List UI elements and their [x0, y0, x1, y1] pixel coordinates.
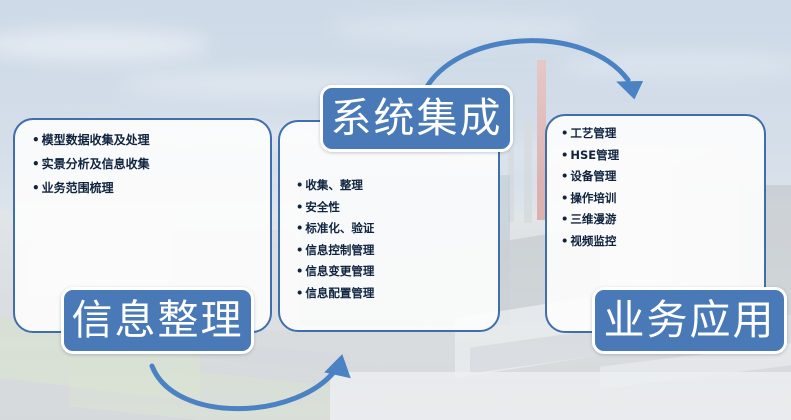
list-item: 信息变更管理 — [296, 266, 374, 278]
stage-left-item-list: 模型数据收集及处理 实景分析及信息收集 业务范围梳理 — [32, 134, 150, 206]
list-item: 标准化、验证 — [296, 223, 374, 235]
list-item: 信息控制管理 — [296, 245, 374, 257]
list-item: 实景分析及信息收集 — [32, 158, 150, 170]
list-item: 模型数据收集及处理 — [32, 134, 150, 146]
list-item: 视频监控 — [561, 236, 619, 248]
list-item: 工艺管理 — [561, 128, 619, 140]
list-item: 操作培训 — [561, 193, 619, 205]
diagram-canvas: 模型数据收集及处理 实景分析及信息收集 业务范围梳理 收集、整理 安全性 标准化… — [0, 0, 791, 420]
stage-title-badge-middle[interactable]: 系统集成 — [320, 85, 513, 152]
stage-title-badge-left[interactable]: 信息整理 — [61, 287, 254, 354]
stage-title-badge-right[interactable]: 业务应用 — [592, 287, 787, 354]
list-item: 业务范围梳理 — [32, 182, 150, 194]
list-item: 收集、整理 — [296, 180, 374, 192]
list-item: 信息配置管理 — [296, 288, 374, 300]
stage-right-item-list: 工艺管理 HSE管理 设备管理 操作培训 三维漫游 视频监控 — [561, 128, 619, 257]
list-item: 三维漫游 — [561, 214, 619, 226]
list-item: 设备管理 — [561, 171, 619, 183]
list-item: HSE管理 — [561, 150, 619, 162]
list-item: 安全性 — [296, 202, 374, 214]
stage-middle-item-list: 收集、整理 安全性 标准化、验证 信息控制管理 信息变更管理 信息配置管理 — [296, 180, 374, 309]
